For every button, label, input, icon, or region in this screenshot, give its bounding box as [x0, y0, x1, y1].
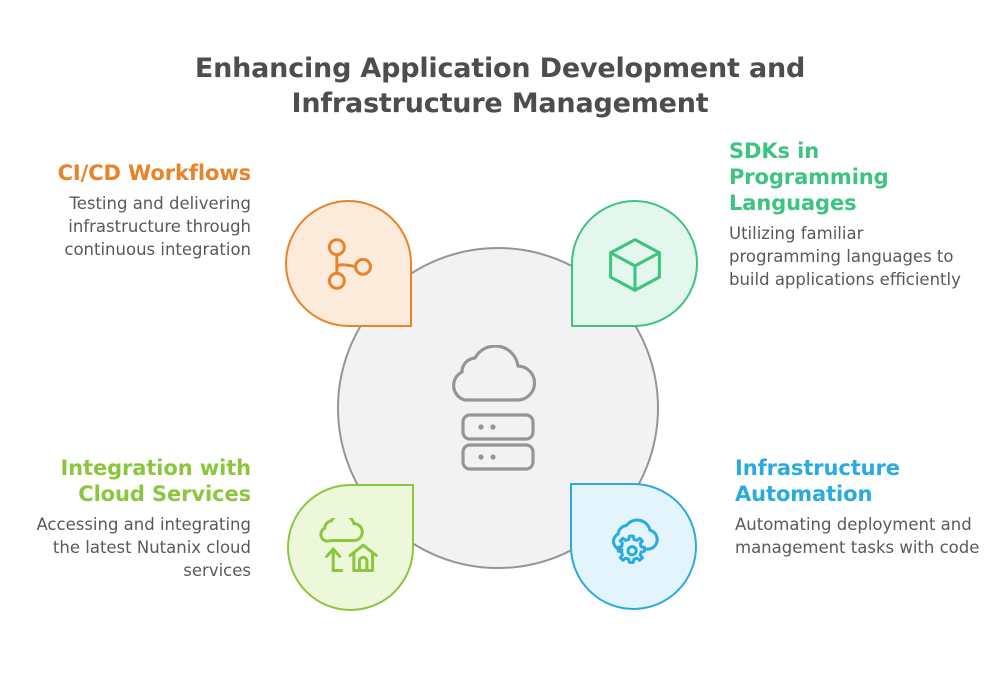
- node-body-cicd: Testing and delivering infrastructure th…: [8, 193, 251, 261]
- node-body-sdk: Utilizing familiar programming languages…: [729, 223, 969, 291]
- page-title: Enhancing Application Development and In…: [100, 52, 900, 121]
- node-heading-sdk: SDKs in Programming Languages: [729, 138, 969, 216]
- node-heading-cicd: CI/CD Workflows: [8, 160, 251, 186]
- node-heading-automation: Infrastructure Automation: [735, 455, 980, 507]
- node-text-automation: Infrastructure Automation Automating dep…: [735, 455, 980, 560]
- node-badge-cloud[interactable]: [287, 484, 414, 611]
- node-heading-cloud: Integration with Cloud Services: [10, 455, 251, 507]
- node-text-cloud: Integration with Cloud Services Accessin…: [10, 455, 251, 582]
- node-badge-cicd[interactable]: [285, 200, 412, 327]
- git-branch-icon: [321, 236, 377, 292]
- node-badge-automation[interactable]: [570, 483, 697, 610]
- infographic-canvas: Enhancing Application Development and In…: [0, 0, 1000, 690]
- node-body-cloud: Accessing and integrating the latest Nut…: [10, 514, 251, 582]
- node-text-cicd: CI/CD Workflows Testing and delivering i…: [8, 160, 251, 261]
- cloud-server-icon: [443, 345, 553, 475]
- cube-icon: [605, 234, 665, 294]
- cloud-house-upload-icon: [318, 518, 384, 578]
- node-text-sdk: SDKs in Programming Languages Utilizing …: [729, 138, 969, 291]
- cloud-gear-icon: [603, 518, 665, 576]
- node-badge-sdk[interactable]: [571, 200, 698, 327]
- node-body-automation: Automating deployment and management tas…: [735, 514, 980, 560]
